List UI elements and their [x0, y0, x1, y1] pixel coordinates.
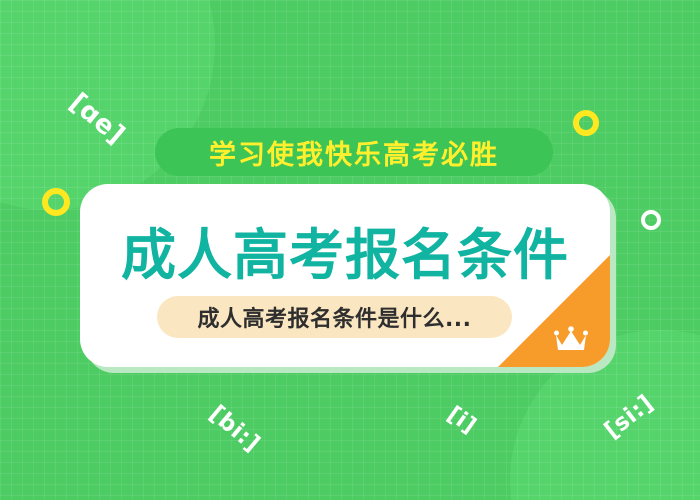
poster-canvas: [ɑe] [bi:] [i] [si:] 学习使我快乐高考必胜 成人高考报名条件… [0, 0, 700, 500]
subtitle-text: 成人高考报名条件是什么... [197, 301, 471, 333]
slogan-banner-text: 学习使我快乐高考必胜 [209, 133, 499, 172]
ring-white-right [641, 210, 661, 230]
crown-icon [554, 326, 588, 352]
phonetic-label-i: [i] [442, 402, 480, 439]
ring-yellow-left [42, 188, 70, 216]
page-title: 成人高考报名条件 [80, 210, 610, 290]
main-card: 成人高考报名条件 成人高考报名条件是什么... [80, 184, 610, 367]
slogan-banner: 学习使我快乐高考必胜 [155, 128, 553, 176]
ring-yellow-right [573, 110, 599, 136]
subtitle-pill: 成人高考报名条件是什么... [157, 296, 512, 338]
phonetic-label-bi: [bi:] [204, 401, 264, 458]
background-blob-top-left [0, 0, 215, 210]
